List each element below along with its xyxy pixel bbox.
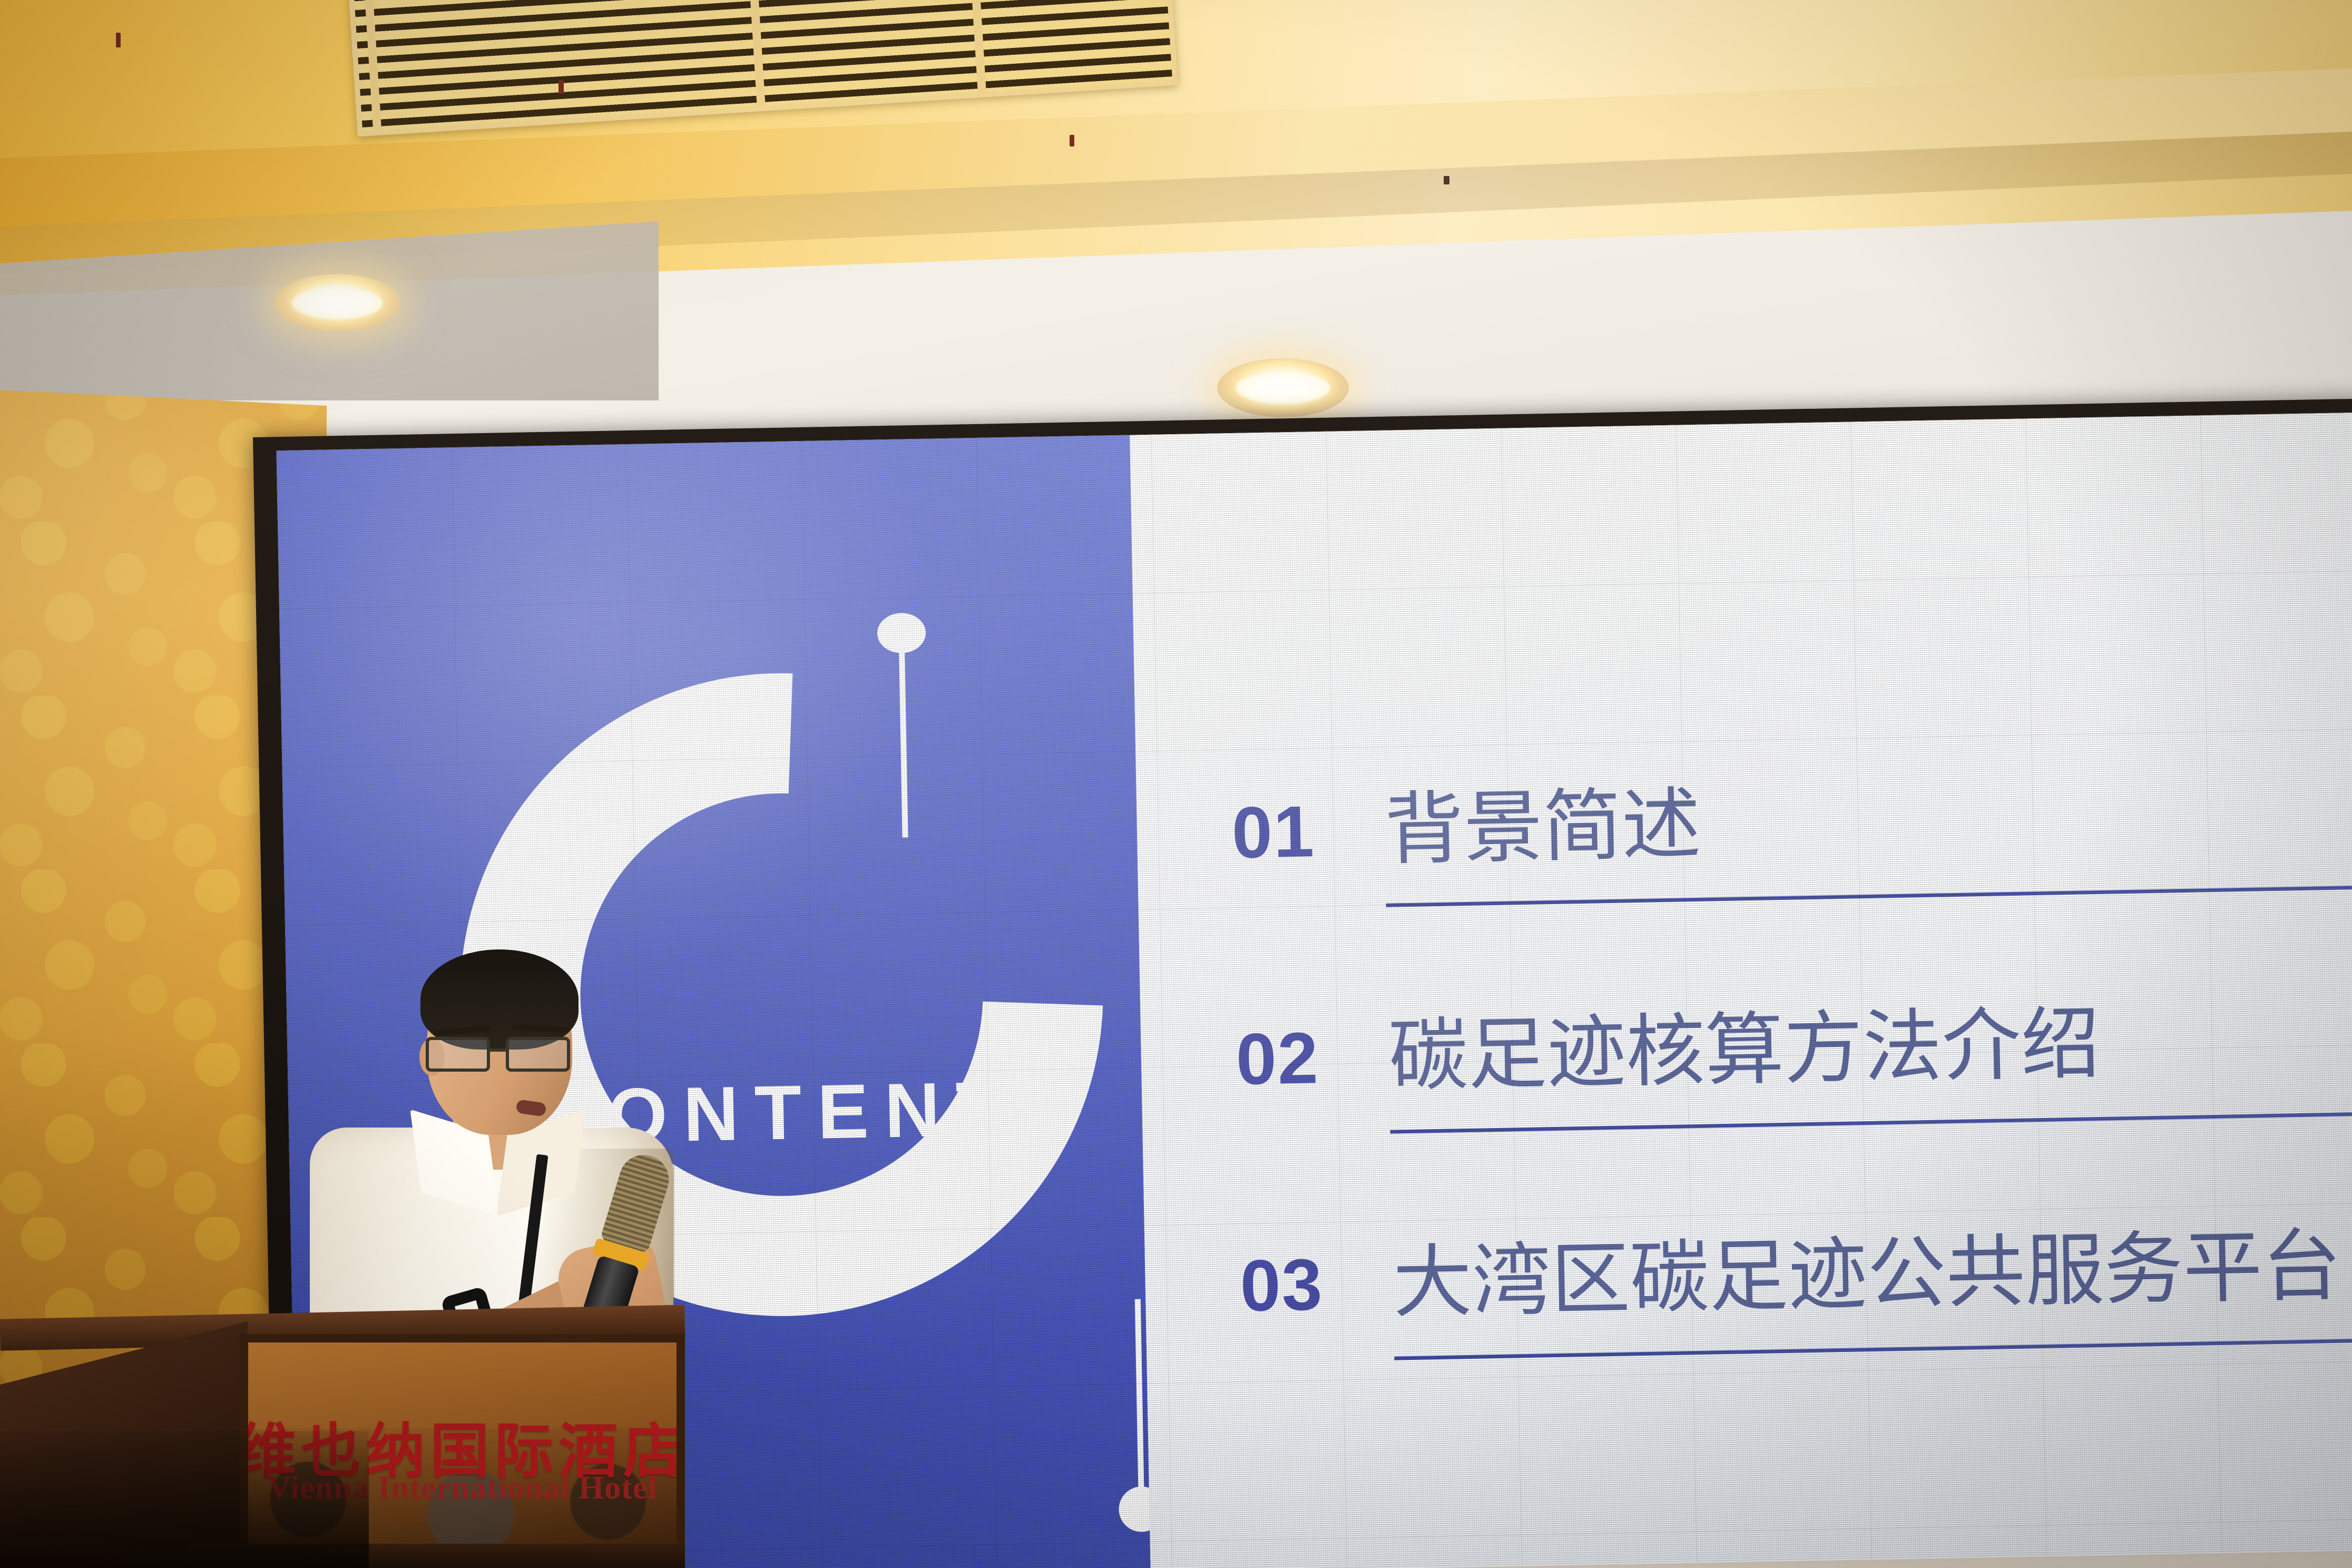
pin-marker-top-icon	[869, 612, 937, 835]
glasses-lens-left	[426, 1037, 490, 1072]
toc-item-underline	[1390, 1112, 2352, 1133]
conference-room-photo: CONTENTS 01 背景简述 02 碳足迹核算方法介绍 03 大湾区碳足迹公	[0, 0, 2352, 1568]
toc-item-underline	[1386, 885, 2352, 907]
ceiling-speck	[558, 80, 564, 94]
toc-item-number: 01	[1231, 795, 1316, 869]
toc-item-number: 03	[1240, 1248, 1324, 1322]
pin-stem	[1135, 1299, 1144, 1500]
glasses-lens-right	[506, 1037, 570, 1072]
table-of-contents: 01 背景简述 02 碳足迹核算方法介绍 03 大湾区碳足迹公共服务平台	[1231, 777, 2324, 1476]
pin-marker-bottom-icon	[1106, 1298, 1151, 1531]
toc-item-underline	[1394, 1338, 2352, 1360]
pin-dot	[1119, 1486, 1151, 1533]
toc-item[interactable]: 03 大湾区碳足迹公共服务平台	[1240, 1230, 2324, 1476]
ceiling-downlight	[1217, 358, 1349, 417]
ceiling-speck	[116, 33, 121, 47]
downlight-core	[1236, 371, 1330, 405]
glasses-bridge	[490, 1048, 507, 1052]
downlight-core	[292, 287, 383, 319]
pin-stem	[899, 648, 908, 837]
speaker-glasses	[426, 1037, 579, 1075]
ceiling-speck	[1070, 135, 1074, 146]
toc-item-label: 大湾区碳足迹公共服务平台	[1392, 1224, 2342, 1326]
ceiling-downlight	[274, 274, 400, 332]
toc-item[interactable]: 02 碳足迹核算方法介绍	[1236, 1003, 2320, 1249]
foreground-shadow	[0, 1431, 369, 1568]
toc-item-label: 碳足迹核算方法介绍	[1388, 1002, 2101, 1099]
toc-item-number: 02	[1236, 1022, 1320, 1096]
toc-item-label: 背景简述	[1384, 783, 1702, 873]
toc-item[interactable]: 01 背景简述	[1231, 777, 2316, 1023]
ceiling-speck	[1444, 176, 1449, 184]
